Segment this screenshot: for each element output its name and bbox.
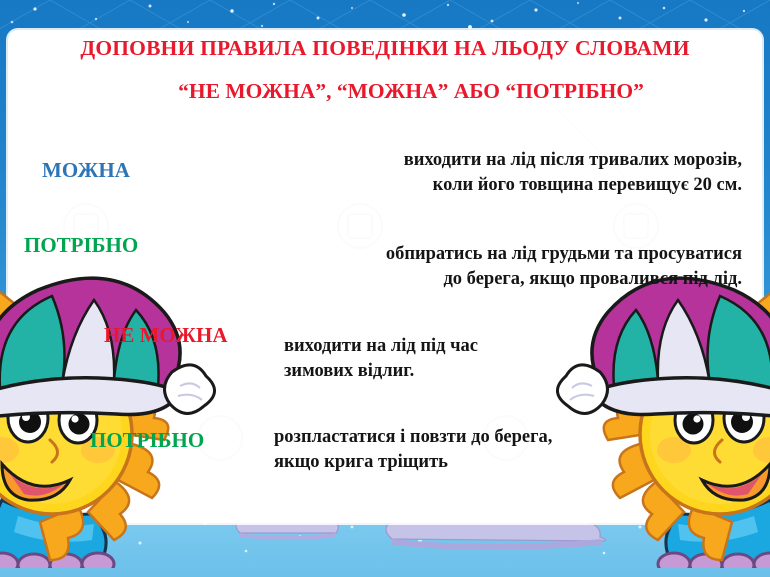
rule-statement-line: до берега, якщо провалився під лід. (200, 267, 742, 292)
rule-answer-label: ПОТРІБНО (24, 235, 138, 256)
rule-statement: розпластатися і повзти до берега, якщо к… (274, 425, 724, 474)
rule-statement-line: зимових відлиг. (284, 359, 724, 384)
slide-canvas: ДОПОВНИ ПРАВИЛА ПОВЕДІНКИ НА ЛЬОДУ СЛОВА… (0, 0, 770, 577)
rule-answer-label: ПОТРІБНО (90, 430, 204, 451)
rule-statement-line: виходити на лід під час (284, 334, 724, 359)
rule-answer-label: МОЖНА (42, 160, 130, 181)
rule-statement-line: виходити на лід після тривалих морозів, (222, 148, 742, 173)
rules-list: МОЖНА виходити на лід після тривалих мор… (0, 0, 770, 577)
rule-statement: виходити на лід під час зимових відлиг. (284, 334, 724, 383)
rule-statement-line: коли його товщина перевищує 20 см. (222, 173, 742, 198)
rule-statement: обпиратись на лід грудьми та просуватися… (200, 242, 742, 291)
rule-statement-line: обпиратись на лід грудьми та просуватися (200, 242, 742, 267)
rule-statement-line: розпластатися і повзти до берега, (274, 425, 724, 450)
rule-statement-line: якщо крига тріщить (274, 450, 724, 475)
rule-answer-label: НЕ МОЖНА (104, 325, 228, 346)
rule-statement: виходити на лід після тривалих морозів, … (222, 148, 742, 197)
